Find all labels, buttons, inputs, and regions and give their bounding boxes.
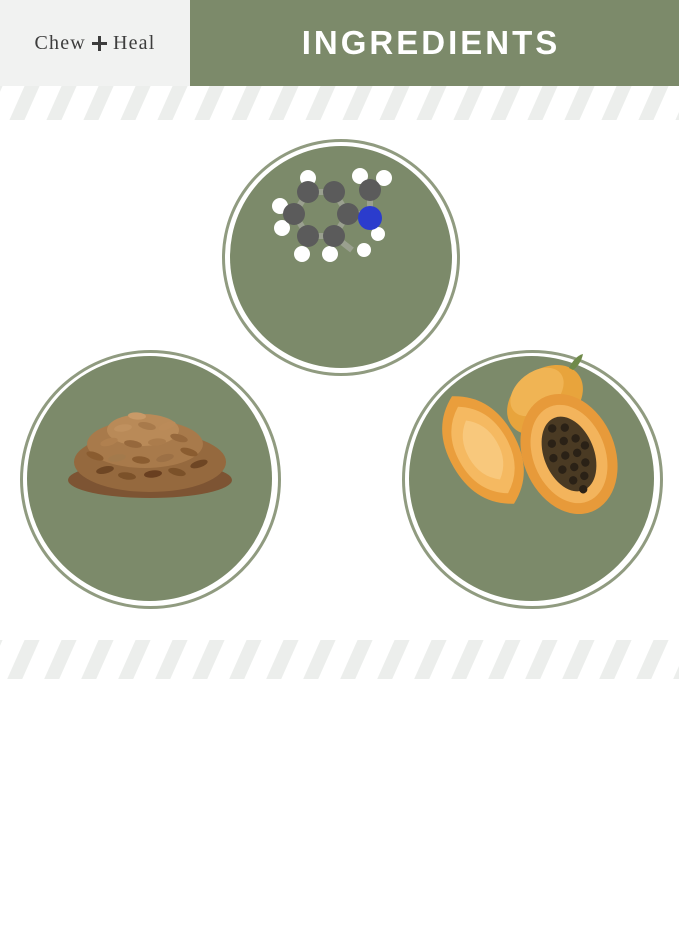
stripe <box>225 86 268 120</box>
stripe <box>373 640 416 679</box>
stripe <box>669 640 679 679</box>
stripe <box>484 86 527 120</box>
stripe <box>77 640 120 679</box>
molecule-model-icon <box>266 162 416 272</box>
stripe <box>225 640 268 679</box>
stripe <box>447 640 490 679</box>
stripe <box>188 86 231 120</box>
stripe <box>3 86 46 120</box>
brand-logo-text: Chew Heal <box>34 32 155 55</box>
stripe <box>188 640 231 679</box>
stripe <box>558 86 601 120</box>
brand-name-first: Chew <box>34 32 85 55</box>
stripe <box>262 640 305 679</box>
flaxseeds-text-block: FLAXSEEDS Good for improving skin and co… <box>27 865 272 928</box>
papaya-fruit-icon <box>417 346 637 526</box>
stripe <box>114 86 157 120</box>
stripe <box>151 86 194 120</box>
stripe <box>40 86 83 120</box>
stripe <box>447 86 490 120</box>
stripe <box>0 640 9 679</box>
stripe <box>669 86 679 120</box>
stripe <box>521 640 564 679</box>
papaya-text-block: PAPAYA Contains vitamins A, C, and K, wh… <box>409 849 654 946</box>
stripe <box>114 640 157 679</box>
stripe <box>151 640 194 679</box>
stripe <box>521 86 564 120</box>
page-header: INGREDIENTS Chew Heal <box>0 0 679 86</box>
brand-logo: Chew Heal <box>0 0 190 86</box>
stripe <box>373 86 416 120</box>
stripe <box>632 86 675 120</box>
papaya-description: Contains vitamins A, C, and K, which hel… <box>409 878 654 946</box>
stripe <box>0 86 9 120</box>
card-biotin[interactable]: BIOTIN Helps with muscle formation and g… <box>230 146 452 368</box>
brand-name-second: Heal <box>113 32 156 55</box>
stripe-band-top <box>0 86 679 120</box>
stripe <box>3 640 46 679</box>
nitrogen-atom <box>358 206 382 230</box>
stripe <box>299 640 342 679</box>
stripe <box>484 640 527 679</box>
stripe-band-bottom <box>0 640 679 679</box>
stripe <box>40 640 83 679</box>
stripe <box>410 640 453 679</box>
card-flaxseeds[interactable]: FLAXSEEDS Good for improving skin and co… <box>27 356 272 601</box>
stripe <box>336 86 379 120</box>
stripe <box>595 640 638 679</box>
stripe <box>632 640 675 679</box>
flaxseeds-title: FLAXSEEDS <box>27 865 272 889</box>
stripe <box>299 86 342 120</box>
flaxseed-pile-icon <box>65 392 235 502</box>
stripe <box>262 86 305 120</box>
page-title: INGREDIENTS <box>183 0 679 86</box>
stripe <box>410 86 453 120</box>
card-papaya[interactable]: PAPAYA Contains vitamins A, C, and K, wh… <box>409 356 654 601</box>
stripe <box>595 86 638 120</box>
header-band: INGREDIENTS <box>183 0 679 86</box>
stripe <box>336 640 379 679</box>
plus-cross-icon <box>92 36 107 51</box>
papaya-title: PAPAYA <box>409 849 654 873</box>
flaxseeds-description: Good for improving skin and coat health. <box>27 894 272 928</box>
stripe <box>558 640 601 679</box>
stripe <box>77 86 120 120</box>
